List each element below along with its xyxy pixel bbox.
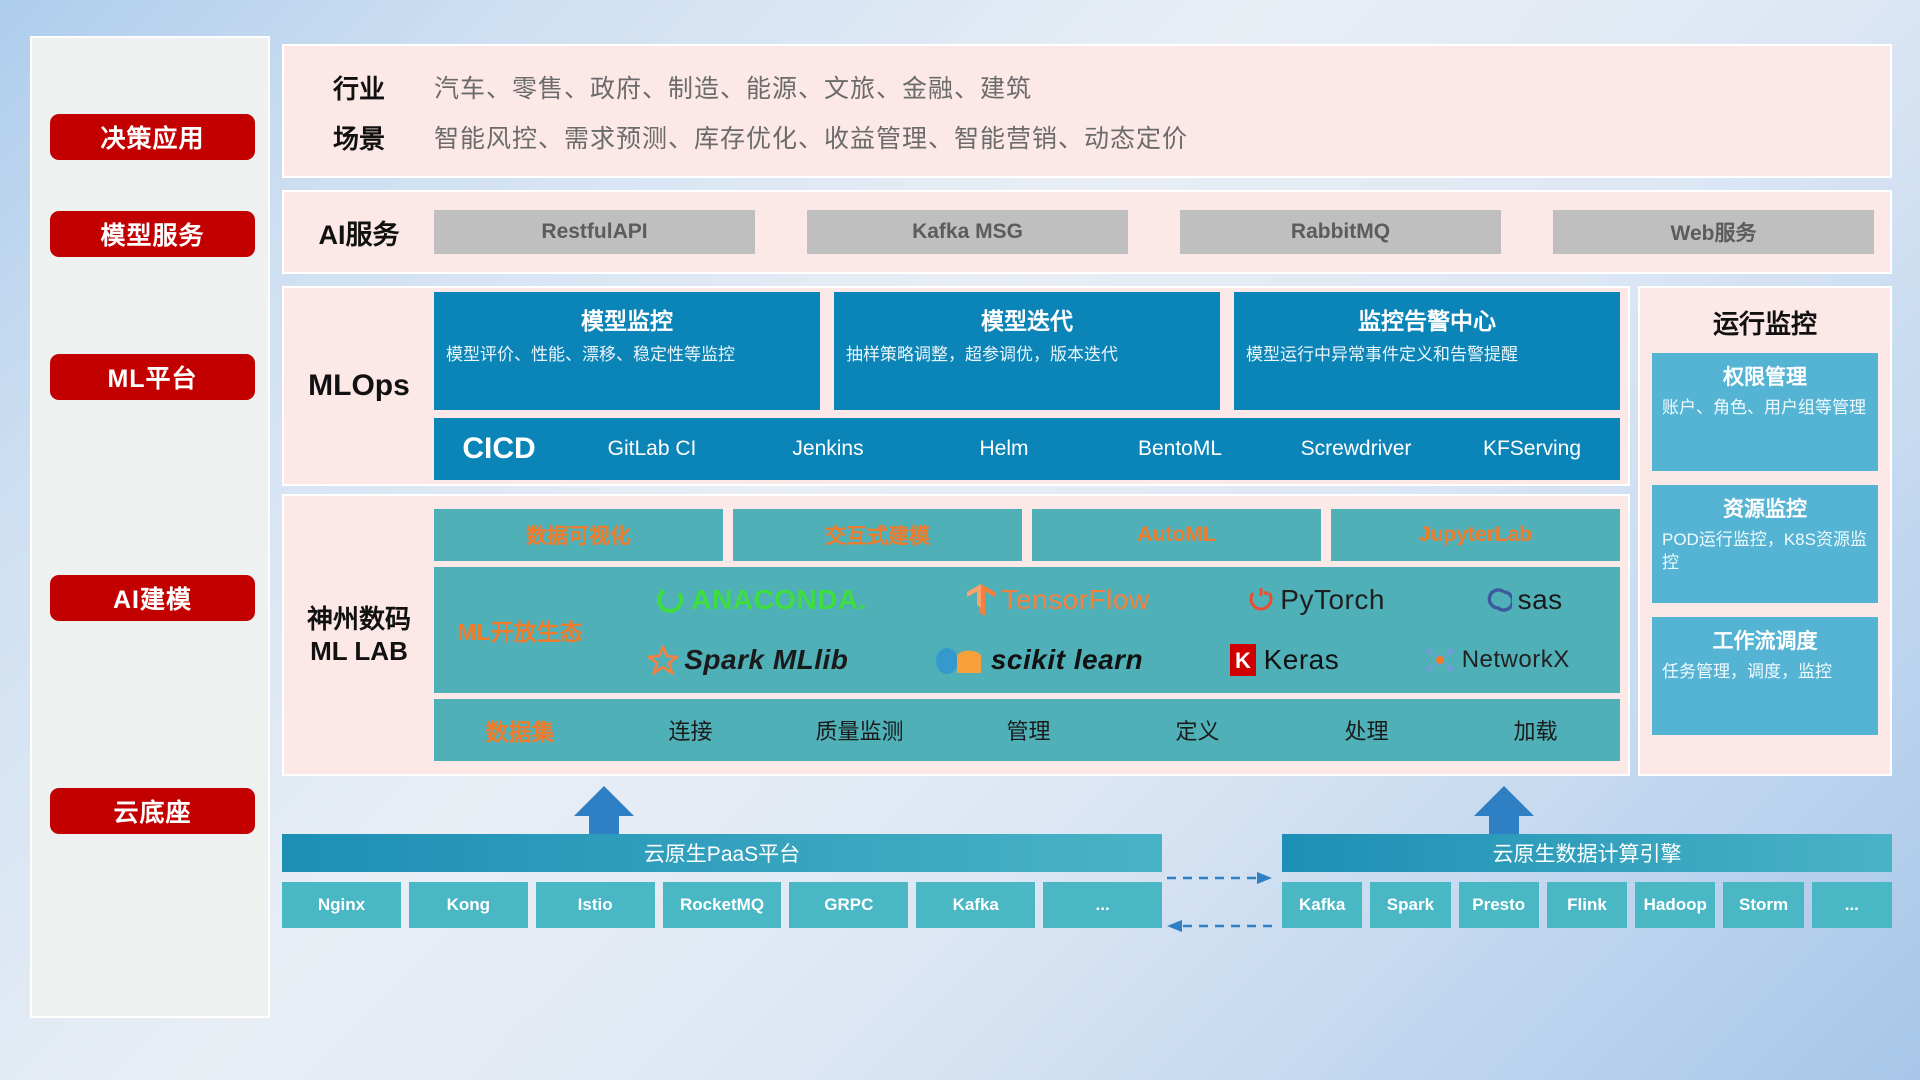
cloud-chip-istio[interactable]: Istio xyxy=(536,882,655,928)
rail-item-ml-platform[interactable]: ML平台 xyxy=(50,354,255,400)
card-title: 监控告警中心 xyxy=(1246,302,1608,336)
card-desc: 模型运行中异常事件定义和告警提醒 xyxy=(1246,344,1608,367)
ai-service-chip-web[interactable]: Web服务 xyxy=(1553,210,1874,254)
industry-row: 行业 汽车、零售、政府、制造、能源、文旅、金融、建筑 xyxy=(284,62,1890,112)
rail-label: 模型服务 xyxy=(100,216,204,252)
arrow-right-head-icon xyxy=(1257,872,1272,884)
cicd-label: CICD xyxy=(434,432,564,466)
cloud-chip-presto[interactable]: Presto xyxy=(1459,882,1539,928)
cloud-chip-kafka-right[interactable]: Kafka xyxy=(1282,882,1362,928)
mlops-card-model-iteration[interactable]: 模型迭代 抽样策略调整，超参调优，版本迭代 xyxy=(834,292,1220,410)
cloud-paas-column: 云原生PaaS平台 Nginx Kong Istio RocketMQ GRPC… xyxy=(282,834,1162,928)
anaconda-logo-text: ANACONDA. xyxy=(691,584,867,616)
dataset-item-process[interactable]: 处理 xyxy=(1282,714,1451,746)
monitor-card-workflow[interactable]: 工作流调度 任务管理，调度，监控 xyxy=(1652,617,1878,735)
cicd-item-gitlab-ci[interactable]: GitLab CI xyxy=(564,437,740,461)
eco-logo-row-1: ANACONDA. TensorFlow xyxy=(606,571,1612,629)
ml-lab-title-line1: 神州数码 xyxy=(284,603,434,636)
mlops-card-alert-center[interactable]: 监控告警中心 模型运行中异常事件定义和告警提醒 xyxy=(1234,292,1620,410)
rail-item-cloud-base[interactable]: 云底座 xyxy=(50,788,255,834)
card-desc: POD运行监控，K8S资源监控 xyxy=(1662,529,1868,575)
spark-mllib-logo-text: Spark MLlib xyxy=(684,644,848,676)
cloud-chip-grpc[interactable]: GRPC xyxy=(789,882,908,928)
monitor-card-resource[interactable]: 资源监控 POD运行监控，K8S资源监控 xyxy=(1652,485,1878,603)
rail-label: ML平台 xyxy=(107,359,197,395)
dataset-label: 数据集 xyxy=(434,713,606,747)
mlops-band: MLOps 模型监控 模型评价、性能、漂移、稳定性等监控 模型迭代 抽样策略调整… xyxy=(282,286,1630,486)
monitor-card-permission[interactable]: 权限管理 账户、角色、用户组等管理 xyxy=(1652,353,1878,471)
sas-logo-text: sas xyxy=(1518,584,1563,616)
ai-service-chip-restfulapi[interactable]: RestfulAPI xyxy=(434,210,755,254)
spark-icon xyxy=(648,645,678,675)
ai-service-band: AI服务 RestfulAPI Kafka MSG RabbitMQ Web服务 xyxy=(282,190,1892,274)
sas-logo: sas xyxy=(1484,584,1563,616)
ai-modeling-band: 神州数码 ML LAB 数据可视化 交互式建模 AutoML JupyterLa… xyxy=(282,494,1630,776)
scenario-row: 场景 智能风控、需求预测、库存优化、收益管理、智能营销、动态定价 xyxy=(284,112,1890,162)
cloud-base-section: 云原生PaaS平台 Nginx Kong Istio RocketMQ GRPC… xyxy=(282,786,1892,1036)
ml-lab-title-line2: ML LAB xyxy=(284,635,434,668)
keras-logo: K Keras xyxy=(1228,643,1340,677)
dataset-item-load[interactable]: 加载 xyxy=(1451,714,1620,746)
spark-mllib-logo: Spark MLlib xyxy=(648,644,848,676)
runtime-monitor-title: 运行监控 xyxy=(1652,304,1878,341)
tensorflow-icon xyxy=(966,583,996,617)
arrow-left-head-icon xyxy=(1167,920,1182,932)
industry-value: 汽车、零售、政府、制造、能源、文旅、金融、建筑 xyxy=(434,69,1032,105)
card-desc: 账户、角色、用户组等管理 xyxy=(1662,397,1868,420)
cloud-paas-chip-list: Nginx Kong Istio RocketMQ GRPC Kafka ... xyxy=(282,882,1162,928)
scikit-learn-logo: scikit learn xyxy=(933,644,1143,676)
mlops-card-list: 模型监控 模型评价、性能、漂移、稳定性等监控 模型迭代 抽样策略调整，超参调优，… xyxy=(434,292,1620,410)
card-desc: 抽样策略调整，超参调优，版本迭代 xyxy=(846,344,1208,367)
cicd-item-jenkins[interactable]: Jenkins xyxy=(740,437,916,461)
dataset-item-define[interactable]: 定义 xyxy=(1113,714,1282,746)
scenario-key: 场景 xyxy=(284,119,434,156)
card-title: 模型迭代 xyxy=(846,302,1208,336)
networkx-icon xyxy=(1424,645,1456,675)
pytorch-logo-text: PyTorch xyxy=(1280,584,1385,616)
rail-item-model-service[interactable]: 模型服务 xyxy=(50,211,255,257)
card-title: 模型监控 xyxy=(446,302,808,336)
sas-icon xyxy=(1484,586,1512,614)
arrow-up-data-engine-icon xyxy=(1474,786,1534,834)
cloud-chip-more-right[interactable]: ... xyxy=(1812,882,1892,928)
ai-service-chip-list: RestfulAPI Kafka MSG RabbitMQ Web服务 xyxy=(434,210,1890,254)
networkx-logo: NetworkX xyxy=(1424,645,1570,675)
arrow-up-paas-icon xyxy=(574,786,634,834)
card-desc: 任务管理，调度，监控 xyxy=(1662,661,1868,684)
cloud-chip-hadoop[interactable]: Hadoop xyxy=(1635,882,1715,928)
ml-open-ecosystem-label: ML开放生态 xyxy=(434,613,606,647)
cloud-chip-spark[interactable]: Spark xyxy=(1370,882,1450,928)
modeling-tool-list: 数据可视化 交互式建模 AutoML JupyterLab xyxy=(434,509,1620,561)
industry-key: 行业 xyxy=(284,69,434,106)
card-title: 资源监控 xyxy=(1662,493,1868,523)
anaconda-logo: ANACONDA. xyxy=(655,584,867,616)
anaconda-icon xyxy=(655,585,685,615)
layer-rail: 决策应用 模型服务 ML平台 AI建模 云底座 xyxy=(30,36,270,1018)
dataset-item-quality[interactable]: 质量监测 xyxy=(775,714,944,746)
cloud-chip-kong[interactable]: Kong xyxy=(409,882,528,928)
cloud-data-engine-bar[interactable]: 云原生数据计算引擎 xyxy=(1282,834,1892,872)
cloud-chip-more-left[interactable]: ... xyxy=(1043,882,1162,928)
runtime-monitor-panel: 运行监控 权限管理 账户、角色、用户组等管理 资源监控 POD运行监控，K8S资… xyxy=(1638,286,1892,776)
tensorflow-logo-text: TensorFlow xyxy=(1002,584,1150,616)
card-desc: 模型评价、性能、漂移、稳定性等监控 xyxy=(446,344,808,367)
scenario-value: 智能风控、需求预测、库存优化、收益管理、智能营销、动态定价 xyxy=(434,119,1188,155)
card-title: 权限管理 xyxy=(1662,361,1868,391)
networkx-logo-text: NetworkX xyxy=(1462,646,1570,674)
cloud-chip-kafka[interactable]: Kafka xyxy=(916,882,1035,928)
dataset-item-manage[interactable]: 管理 xyxy=(944,714,1113,746)
cloud-paas-bar[interactable]: 云原生PaaS平台 xyxy=(282,834,1162,872)
scikit-learn-icon xyxy=(933,645,985,675)
cicd-item-screwdriver[interactable]: Screwdriver xyxy=(1268,437,1444,461)
tool-chip-automl[interactable]: AutoML xyxy=(1032,509,1321,561)
keras-icon: K xyxy=(1228,643,1258,677)
keras-logo-text: Keras xyxy=(1264,644,1340,676)
svg-text:K: K xyxy=(1235,648,1251,673)
tool-chip-jupyterlab[interactable]: JupyterLab xyxy=(1331,509,1620,561)
cloud-data-engine-chip-list: Kafka Spark Presto Flink Hadoop Storm ..… xyxy=(1282,882,1892,928)
rail-label: AI建模 xyxy=(113,580,192,616)
cicd-item-helm[interactable]: Helm xyxy=(916,437,1092,461)
cloud-chip-storm[interactable]: Storm xyxy=(1723,882,1803,928)
cloud-chip-nginx[interactable]: Nginx xyxy=(282,882,401,928)
tool-chip-data-visualization[interactable]: 数据可视化 xyxy=(434,509,723,561)
cloud-data-engine-column: 云原生数据计算引擎 Kafka Spark Presto Flink Hadoo… xyxy=(1282,834,1892,928)
cloud-chip-rocketmq[interactable]: RocketMQ xyxy=(663,882,782,928)
rail-label: 决策应用 xyxy=(100,119,204,155)
dataset-item-connect[interactable]: 连接 xyxy=(606,714,775,746)
cicd-item-bentoml[interactable]: BentoML xyxy=(1092,437,1268,461)
rail-item-decision-apps[interactable]: 决策应用 xyxy=(50,114,255,160)
cicd-row: CICD GitLab CI Jenkins Helm BentoML Scre… xyxy=(434,418,1620,480)
ai-service-chip-kafka-msg[interactable]: Kafka MSG xyxy=(807,210,1128,254)
eco-logo-row-2: Spark MLlib scikit learn xyxy=(606,631,1612,689)
mlops-card-model-monitoring[interactable]: 模型监控 模型评价、性能、漂移、稳定性等监控 xyxy=(434,292,820,410)
pytorch-logo: PyTorch xyxy=(1248,584,1385,616)
ai-service-title: AI服务 xyxy=(284,213,434,252)
ai-service-chip-rabbitmq[interactable]: RabbitMQ xyxy=(1180,210,1501,254)
mlops-title: MLOps xyxy=(284,369,434,403)
pytorch-icon xyxy=(1248,585,1274,615)
cicd-item-kfserving[interactable]: KFServing xyxy=(1444,437,1620,461)
scikit-learn-logo-text: scikit learn xyxy=(991,644,1143,676)
ml-lab-title: 神州数码 ML LAB xyxy=(284,603,434,668)
decision-apps-band: 行业 汽车、零售、政府、制造、能源、文旅、金融、建筑 场景 智能风控、需求预测、… xyxy=(282,44,1892,178)
tool-chip-interactive-modeling[interactable]: 交互式建模 xyxy=(733,509,1022,561)
rail-item-ai-modeling[interactable]: AI建模 xyxy=(50,575,255,621)
tensorflow-logo: TensorFlow xyxy=(966,583,1150,617)
dataset-row: 数据集 连接 质量监测 管理 定义 处理 加载 xyxy=(434,699,1620,761)
card-title: 工作流调度 xyxy=(1662,625,1868,655)
cloud-chip-flink[interactable]: Flink xyxy=(1547,882,1627,928)
ml-open-ecosystem: ML开放生态 ANACONDA. xyxy=(434,567,1620,693)
rail-label: 云底座 xyxy=(113,793,191,829)
